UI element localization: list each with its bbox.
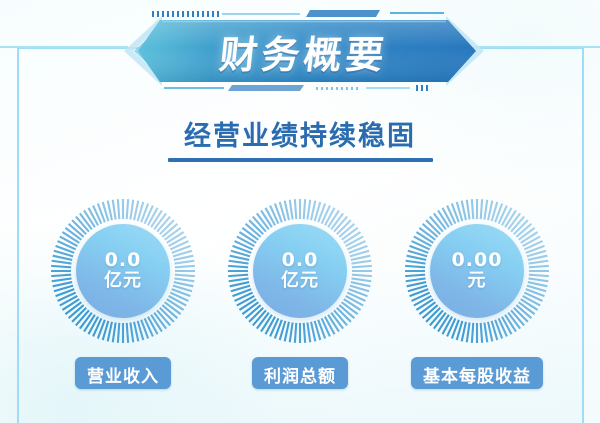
metric-gauge-operating-revenue: 0.0 亿元 [48,196,198,346]
metric-gauge-row: 0.0 亿元 0.0 亿元 0.00 元 [0,196,600,346]
metric-label-basic-eps: 基本每股收益 [411,357,543,389]
financial-summary-infographic: 财务概要 经营业绩持续稳固 0.0 亿元 0.0 亿元 [0,0,600,423]
page-subtitle: 经营业绩持续稳固 [0,114,600,153]
pill-slot: 营业收入 [48,357,198,389]
title-banner: 财务概要 [104,8,504,94]
gauge-unit: 亿元 [281,271,319,292]
metric-gauge-total-profit: 0.0 亿元 [225,196,375,346]
gauge-value: 0.00 [452,251,503,271]
gauge-value: 0.0 [105,251,142,271]
gauge-disc: 0.0 亿元 [253,224,347,318]
metric-label-row: 营业收入 利润总额 基本每股收益 [0,357,600,389]
gauge-unit: 亿元 [104,271,142,292]
gauge-value: 0.0 [282,251,319,271]
banner-title-text: 财务概要 [99,8,508,94]
subtitle-underline [168,158,433,162]
gauge-disc: 0.00 元 [430,224,524,318]
metric-label-total-profit: 利润总额 [252,357,348,389]
metric-label-operating-revenue: 营业收入 [75,357,171,389]
gauge-disc: 0.0 亿元 [76,224,170,318]
pill-slot: 利润总额 [225,357,375,389]
gauge-unit: 元 [468,271,487,292]
metric-gauge-basic-eps: 0.00 元 [402,196,552,346]
pill-slot: 基本每股收益 [402,357,552,389]
